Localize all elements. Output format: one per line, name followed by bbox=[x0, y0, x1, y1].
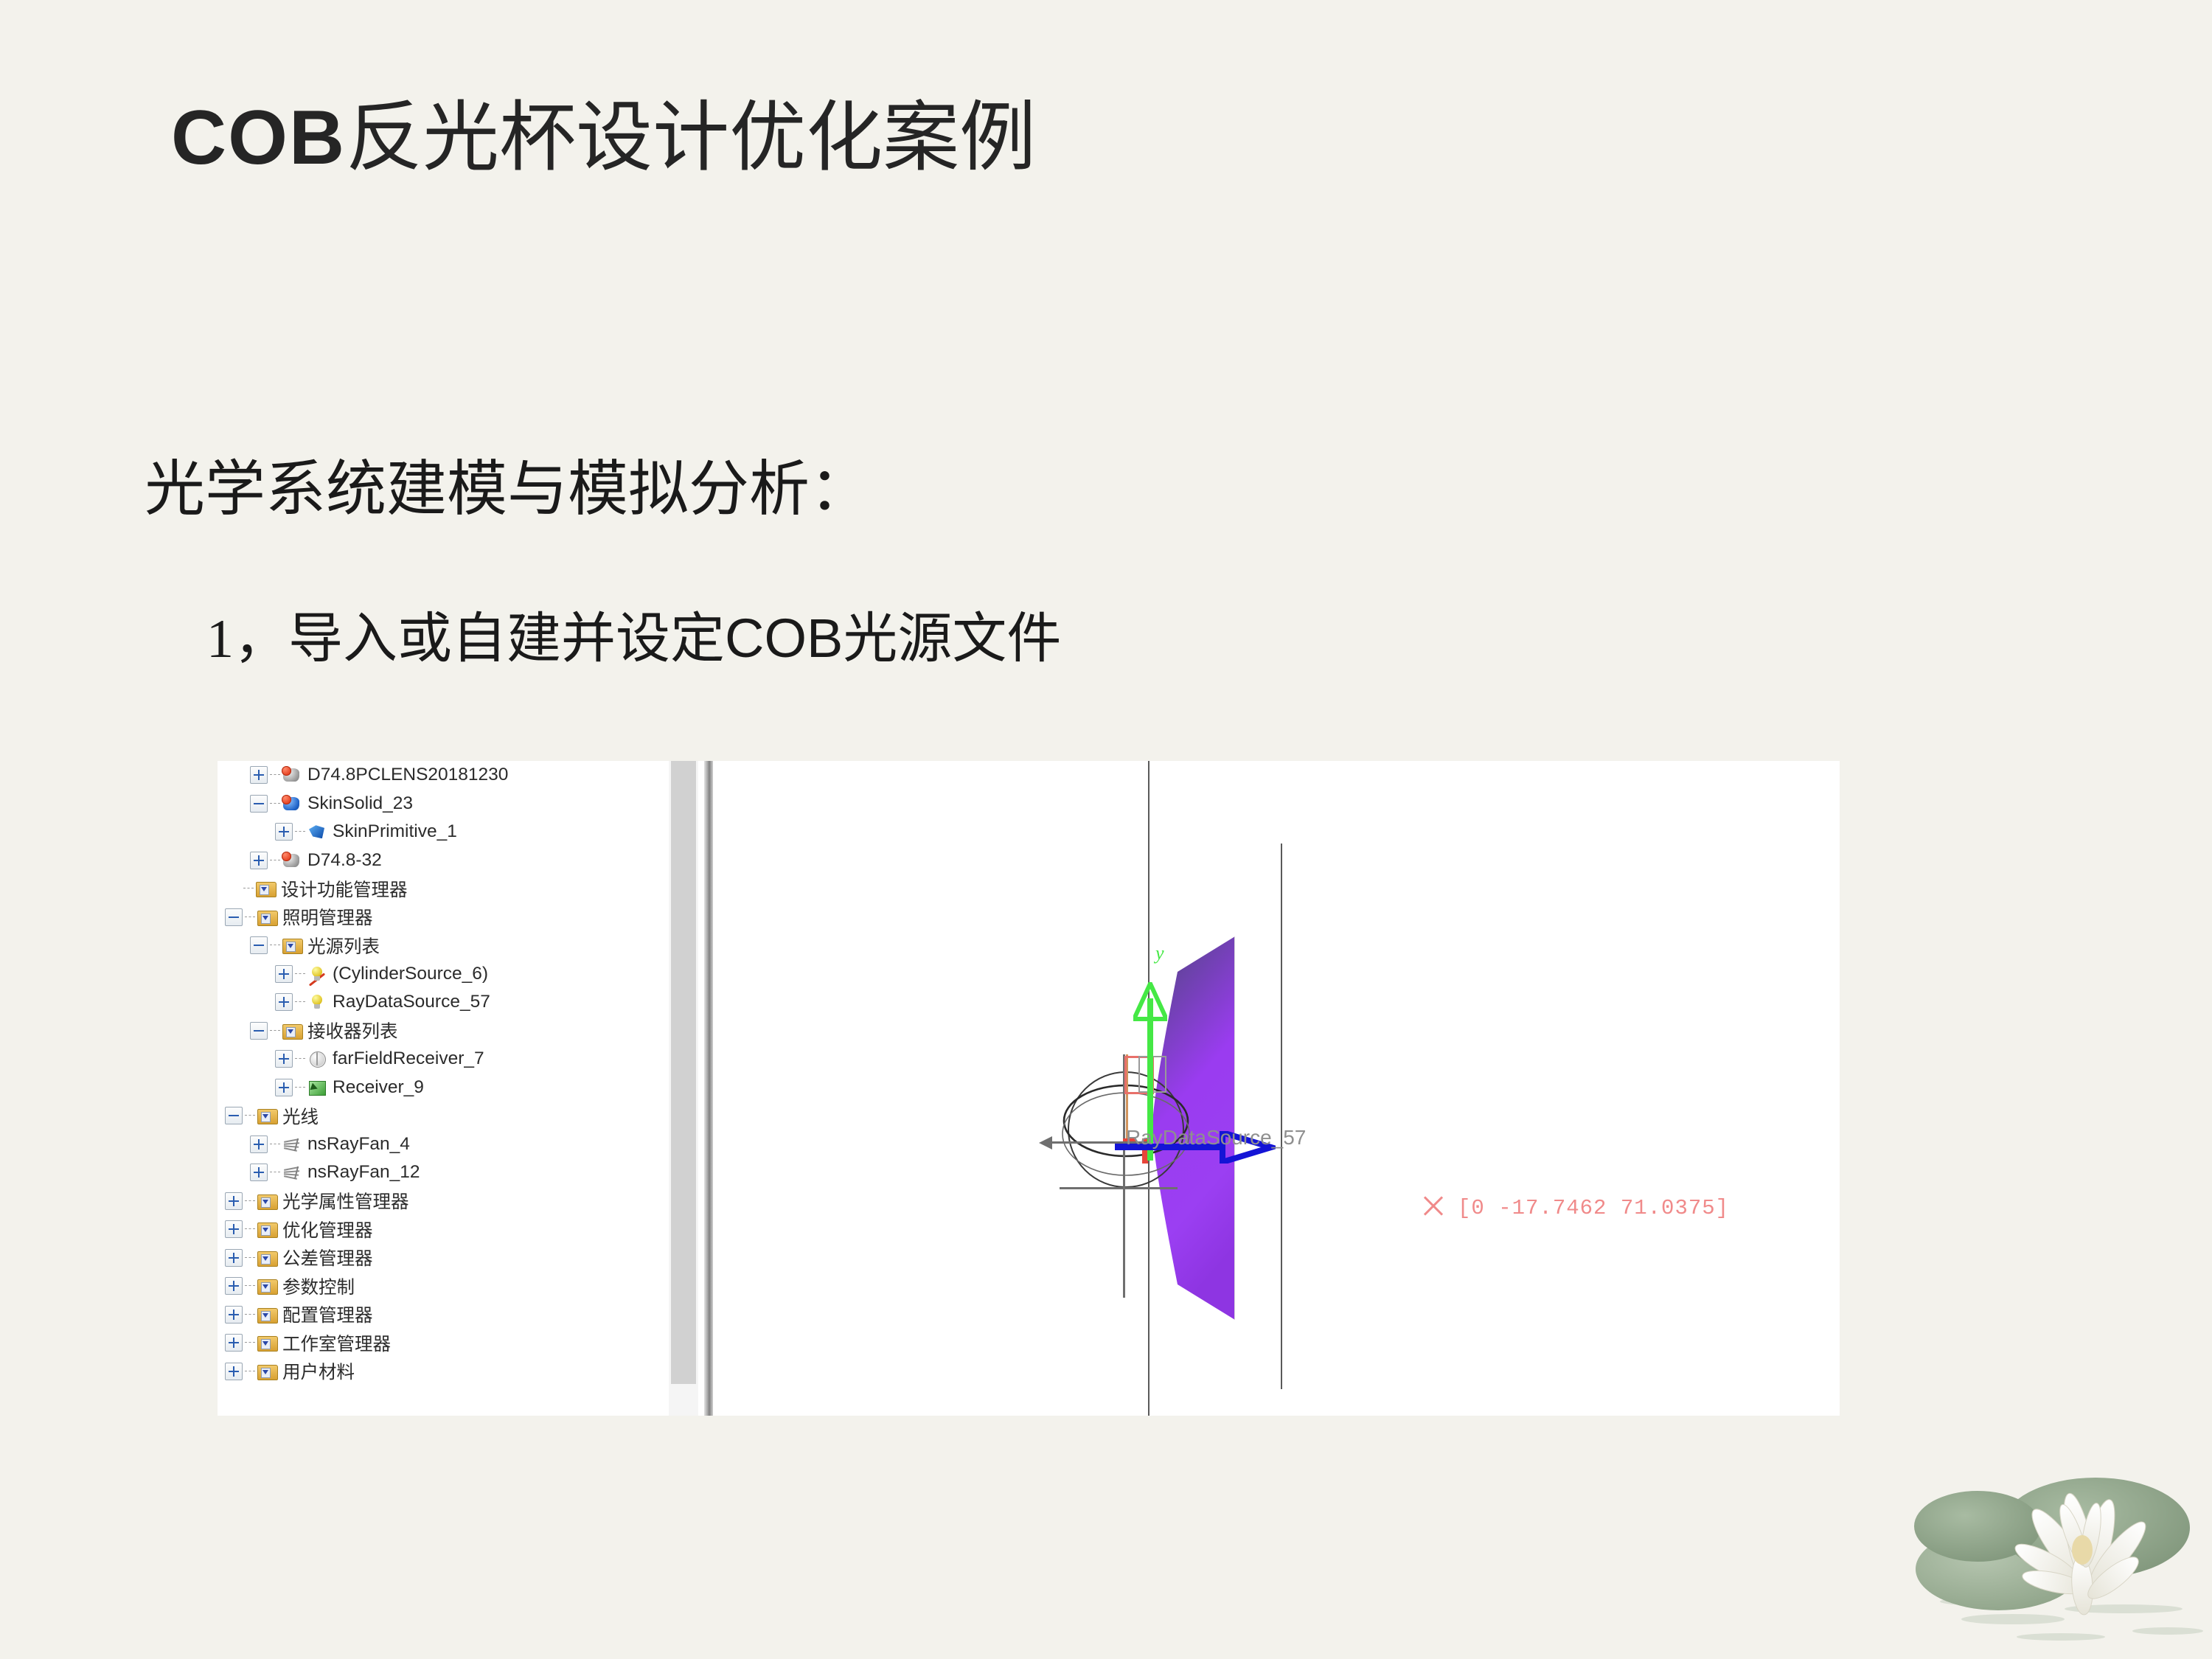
tree-item-21[interactable]: 用户材料 bbox=[218, 1357, 667, 1386]
tree-item-3[interactable]: D74.8-32 bbox=[218, 846, 667, 875]
tree-item-label: 光线 bbox=[282, 1103, 319, 1129]
tree-item-12[interactable]: 光线 bbox=[218, 1102, 667, 1130]
expand-toggle-icon[interactable] bbox=[225, 1363, 243, 1380]
collapse-toggle-icon[interactable] bbox=[250, 1022, 268, 1040]
folder-icon bbox=[282, 1021, 302, 1040]
expand-toggle-icon[interactable] bbox=[250, 766, 268, 784]
tree-item-label: nsRayFan_12 bbox=[307, 1162, 420, 1183]
bullet-text-post: 光源文件 bbox=[843, 609, 1061, 669]
globe-icon bbox=[307, 1049, 327, 1068]
receiver-icon bbox=[307, 1078, 327, 1097]
tree-indent bbox=[218, 803, 250, 804]
tree-item-17[interactable]: 公差管理器 bbox=[218, 1244, 667, 1273]
tree-indent bbox=[218, 860, 250, 860]
page-title-han: 反光杯设计优化案例 bbox=[346, 96, 1036, 181]
expand-toggle-icon[interactable] bbox=[225, 1334, 243, 1352]
solid-blue-disabled-icon bbox=[282, 794, 302, 813]
tree-item-label: 用户材料 bbox=[282, 1358, 355, 1384]
tree-connector-line bbox=[270, 945, 280, 946]
page-title: COB反光杯设计优化案例 bbox=[171, 94, 1036, 183]
collapse-toggle-icon[interactable] bbox=[250, 936, 268, 954]
tree-item-label: farFieldReceiver_7 bbox=[333, 1048, 484, 1069]
expand-toggle-icon[interactable] bbox=[250, 1135, 268, 1153]
tree-item-19[interactable]: 配置管理器 bbox=[218, 1301, 667, 1329]
folder-icon bbox=[257, 1220, 277, 1239]
tree-item-4[interactable]: 设计功能管理器 bbox=[218, 874, 667, 903]
tree-connector-line bbox=[245, 1200, 255, 1202]
folder-icon bbox=[257, 1192, 277, 1211]
expand-toggle-icon[interactable] bbox=[250, 852, 268, 869]
optical-axis-line-2 bbox=[1281, 844, 1282, 1389]
coordinate-readout: [0 -17.7462 71.0375] bbox=[1458, 1196, 1729, 1220]
bullet-text-latin: COB bbox=[725, 608, 843, 669]
gizmo-horizontal-stem bbox=[1060, 1187, 1178, 1189]
tree-item-11[interactable]: Receiver_9 bbox=[218, 1074, 667, 1102]
tree-indent bbox=[218, 945, 250, 946]
section-heading: 光学系统建模与模拟分析： bbox=[145, 439, 870, 527]
tree-indent bbox=[218, 1002, 275, 1003]
tree-item-label: D74.8PCLENS20181230 bbox=[307, 765, 508, 785]
tree-indent bbox=[218, 1200, 225, 1201]
tree-indent bbox=[218, 1144, 250, 1144]
tree-connector-line bbox=[295, 973, 305, 975]
folder-icon bbox=[257, 1248, 277, 1267]
panel-splitter[interactable] bbox=[704, 761, 713, 1416]
tree-item-label: 照明管理器 bbox=[282, 904, 373, 930]
tree-indent bbox=[218, 1059, 275, 1060]
source-label: RayDataSource_57 bbox=[1126, 1126, 1306, 1150]
folder-icon bbox=[257, 1362, 277, 1381]
tree-indent bbox=[218, 1116, 225, 1116]
folder-icon bbox=[282, 936, 302, 955]
expand-toggle-icon[interactable] bbox=[275, 965, 293, 983]
bulb-disabled-icon bbox=[307, 964, 327, 984]
folder-icon bbox=[257, 908, 277, 927]
crosshair-marker-icon bbox=[1421, 1193, 1446, 1218]
expand-toggle-icon[interactable] bbox=[225, 1249, 243, 1267]
expand-toggle-icon[interactable] bbox=[275, 1050, 293, 1068]
tree-connector-line bbox=[295, 831, 305, 832]
tree-connector-line bbox=[245, 1257, 255, 1259]
tree-item-label: Receiver_9 bbox=[333, 1077, 424, 1098]
tree-item-label: 接收器列表 bbox=[307, 1018, 398, 1043]
tree-indent bbox=[218, 917, 225, 917]
bulb-icon bbox=[307, 992, 327, 1012]
tree-item-label: 公差管理器 bbox=[282, 1245, 373, 1270]
tree-connector-line bbox=[245, 1285, 255, 1287]
tree-connector-line bbox=[245, 1228, 255, 1230]
tree-indent bbox=[218, 1172, 250, 1173]
tree-connector-line bbox=[295, 1058, 305, 1060]
tree-connector-line bbox=[270, 774, 280, 776]
bullet-item-1: 1，导入或自建并设定COB光源文件 bbox=[206, 594, 1061, 673]
folder-icon bbox=[257, 1106, 277, 1125]
tree-indent bbox=[218, 832, 275, 832]
tree-indent bbox=[218, 1343, 225, 1343]
tree-indent bbox=[218, 1286, 225, 1287]
embedded-app-screenshot: D74.8PCLENS20181230SkinSolid_23SkinPrimi… bbox=[218, 761, 1840, 1416]
tree-item-label: (CylinderSource_6) bbox=[333, 964, 488, 984]
bullet-text-pre: 1，导入或自建并设定 bbox=[206, 609, 725, 669]
tree-item-13[interactable]: nsRayFan_4 bbox=[218, 1130, 667, 1159]
tree-connector-line bbox=[270, 1172, 280, 1173]
tree-item-7[interactable]: (CylinderSource_6) bbox=[218, 960, 667, 989]
expand-toggle-icon[interactable] bbox=[275, 993, 293, 1011]
expand-toggle-icon[interactable] bbox=[250, 1164, 268, 1181]
tree-item-5[interactable]: 照明管理器 bbox=[218, 903, 667, 932]
tree-indent bbox=[218, 888, 225, 889]
tree-item-label: nsRayFan_4 bbox=[307, 1134, 410, 1155]
tree-indent bbox=[218, 1229, 225, 1230]
tree-item-6[interactable]: 光源列表 bbox=[218, 931, 667, 960]
tree-leaf-spacer bbox=[225, 880, 241, 897]
tree-item-label: 光学属性管理器 bbox=[282, 1188, 409, 1214]
tree-item-label: RayDataSource_57 bbox=[333, 992, 490, 1012]
solid-grey-disabled-icon bbox=[282, 765, 302, 785]
tree-item-1[interactable]: SkinSolid_23 bbox=[218, 790, 667, 818]
expand-toggle-icon[interactable] bbox=[225, 1306, 243, 1324]
tree-item-0[interactable]: D74.8PCLENS20181230 bbox=[218, 761, 667, 790]
tree-connector-line bbox=[270, 860, 280, 861]
tree-item-16[interactable]: 优化管理器 bbox=[218, 1215, 667, 1244]
tree-item-label: 设计功能管理器 bbox=[281, 876, 408, 902]
tree-indent bbox=[218, 1314, 225, 1315]
tree-item-label: 参数控制 bbox=[282, 1273, 355, 1299]
tree-item-label: 光源列表 bbox=[307, 933, 380, 959]
tree-item-label: SkinPrimitive_1 bbox=[333, 821, 457, 842]
tree-connector-line bbox=[245, 1342, 255, 1343]
tree-connector-line bbox=[295, 1001, 305, 1003]
tree-connector-line bbox=[245, 1314, 255, 1315]
tree-item-label: 优化管理器 bbox=[282, 1217, 373, 1242]
folder-icon bbox=[257, 1305, 277, 1324]
folder-icon bbox=[255, 879, 276, 898]
model-tree-panel[interactable]: D74.8PCLENS20181230SkinSolid_23SkinPrimi… bbox=[218, 761, 667, 1416]
tree-item-20[interactable]: 工作室管理器 bbox=[218, 1329, 667, 1357]
tree-indent bbox=[218, 973, 275, 974]
solid-grey-disabled-icon bbox=[282, 851, 302, 870]
water-lily-decoration bbox=[1902, 1438, 2212, 1659]
3d-viewport[interactable]: y RayDataSource_57 [0 -17.7462 71.0375] bbox=[713, 761, 1840, 1416]
tree-item-2[interactable]: SkinPrimitive_1 bbox=[218, 818, 667, 846]
tree-item-10[interactable]: farFieldReceiver_7 bbox=[218, 1045, 667, 1074]
collapse-toggle-icon[interactable] bbox=[225, 908, 243, 926]
tree-indent bbox=[218, 775, 250, 776]
tree-indent bbox=[218, 1257, 225, 1258]
tree-connector-line bbox=[270, 1030, 280, 1032]
tree-item-label: D74.8-32 bbox=[307, 850, 382, 871]
tree-item-8[interactable]: RayDataSource_57 bbox=[218, 988, 667, 1017]
tree-indent bbox=[218, 1087, 275, 1088]
tree-connector-line bbox=[295, 1087, 305, 1088]
ray-fan-icon bbox=[282, 1163, 302, 1182]
tree-item-label: 工作室管理器 bbox=[282, 1330, 391, 1356]
tree-item-14[interactable]: nsRayFan_12 bbox=[218, 1158, 667, 1187]
tree-item-9[interactable]: 接收器列表 bbox=[218, 1017, 667, 1046]
tree-item-label: 配置管理器 bbox=[282, 1301, 373, 1327]
skin-primitive-icon bbox=[307, 822, 327, 841]
tree-scrollbar-thumb[interactable] bbox=[671, 761, 696, 1384]
tree-connector-line bbox=[245, 1371, 255, 1372]
folder-icon bbox=[257, 1276, 277, 1295]
tree-connector-line bbox=[270, 1144, 280, 1145]
page-title-latin: COB bbox=[171, 95, 346, 181]
tree-connector-line bbox=[245, 917, 255, 918]
tree-indent bbox=[218, 1371, 225, 1371]
folder-icon bbox=[257, 1333, 277, 1352]
y-axis-label: y bbox=[1155, 942, 1164, 964]
tree-connector-line bbox=[243, 888, 254, 889]
expand-toggle-icon[interactable] bbox=[275, 1079, 293, 1096]
expand-toggle-icon[interactable] bbox=[275, 823, 293, 841]
ray-fan-icon bbox=[282, 1135, 302, 1154]
tree-indent bbox=[218, 1030, 250, 1031]
tree-item-18[interactable]: 参数控制 bbox=[218, 1272, 667, 1301]
collapse-toggle-icon[interactable] bbox=[250, 795, 268, 813]
tree-item-label: SkinSolid_23 bbox=[307, 793, 413, 814]
expand-toggle-icon[interactable] bbox=[225, 1277, 243, 1295]
tree-connector-line bbox=[245, 1115, 255, 1116]
collapse-toggle-icon[interactable] bbox=[225, 1107, 243, 1124]
expand-toggle-icon[interactable] bbox=[225, 1220, 243, 1238]
tree-connector-line bbox=[270, 803, 280, 804]
tree-item-15[interactable]: 光学属性管理器 bbox=[218, 1187, 667, 1216]
expand-toggle-icon[interactable] bbox=[225, 1192, 243, 1210]
